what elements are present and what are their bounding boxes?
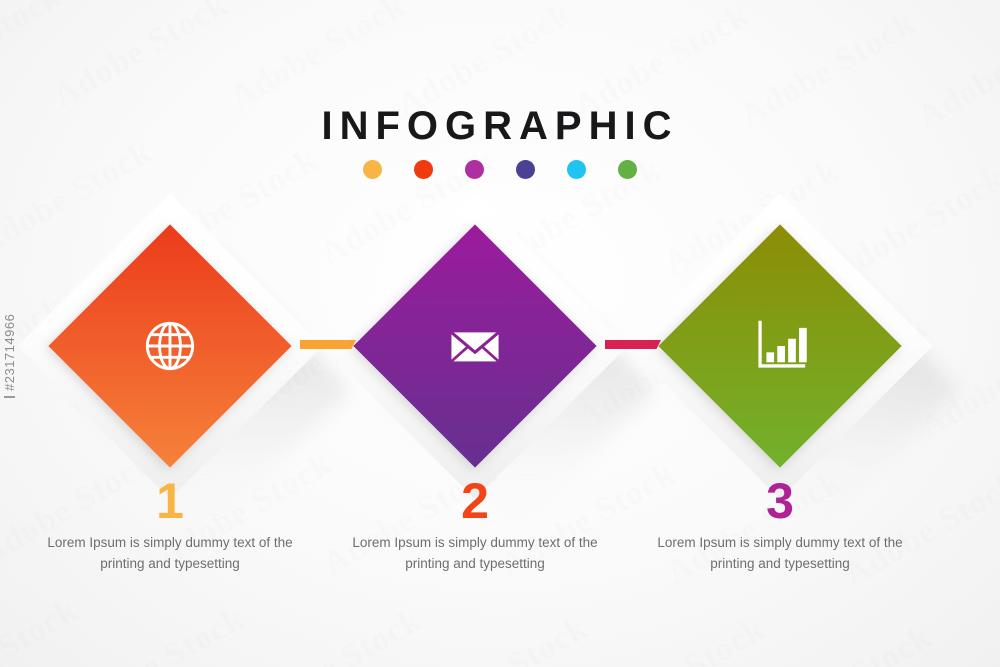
asset-id-watermark: #231714966 [2, 314, 17, 398]
step-caption-1: Lorem Ipsum is simply dummy text of the … [30, 532, 310, 575]
watermark-text: Adobe Stock [584, 610, 772, 667]
step-card-2[interactable] [355, 226, 595, 466]
globe-icon [140, 316, 200, 376]
dot-amber [363, 160, 382, 179]
envelope-icon [445, 316, 505, 376]
watermark-text: Adobe Stock [241, 601, 429, 667]
step-card-3[interactable] [660, 226, 900, 466]
watermark-row: Adobe Stock Adobe Stock Adobe Stock Adob… [257, 613, 1000, 667]
bar-chart-icon [750, 316, 810, 376]
watermark-text: Adobe Stock [63, 599, 251, 667]
color-dot-row [0, 160, 1000, 179]
step-caption-2: Lorem Ipsum is simply dummy text of the … [335, 532, 615, 575]
connector-1-to-2 [300, 340, 356, 349]
step-card-1[interactable] [50, 226, 290, 466]
dot-magenta [465, 160, 484, 179]
watermark-text: Adobe Stock [0, 0, 68, 107]
watermark-text: Adobe Stock [928, 620, 1000, 667]
dot-cyan [567, 160, 586, 179]
step-caption-3: Lorem Ipsum is simply dummy text of the … [640, 532, 920, 575]
connector-2-to-3 [605, 340, 661, 349]
watermark-text: Adobe Stock [0, 592, 85, 667]
watermark-text: Adobe Stock [750, 618, 938, 667]
infographic-canvas: Adobe Stock Adobe Stock Adobe Stock Adob… [0, 0, 1000, 667]
step-number-1: 1 [50, 476, 290, 526]
watermark-text: Adobe Stock [407, 609, 595, 667]
dot-red [414, 160, 433, 179]
step-number-2: 2 [355, 476, 595, 526]
dot-green [618, 160, 637, 179]
step-number-3: 3 [660, 476, 900, 526]
page-title: INFOGRAPHIC [0, 104, 1000, 149]
watermark-text: Adobe Stock [224, 0, 412, 117]
dot-indigo [516, 160, 535, 179]
watermark-text: Adobe Stock [47, 0, 235, 115]
